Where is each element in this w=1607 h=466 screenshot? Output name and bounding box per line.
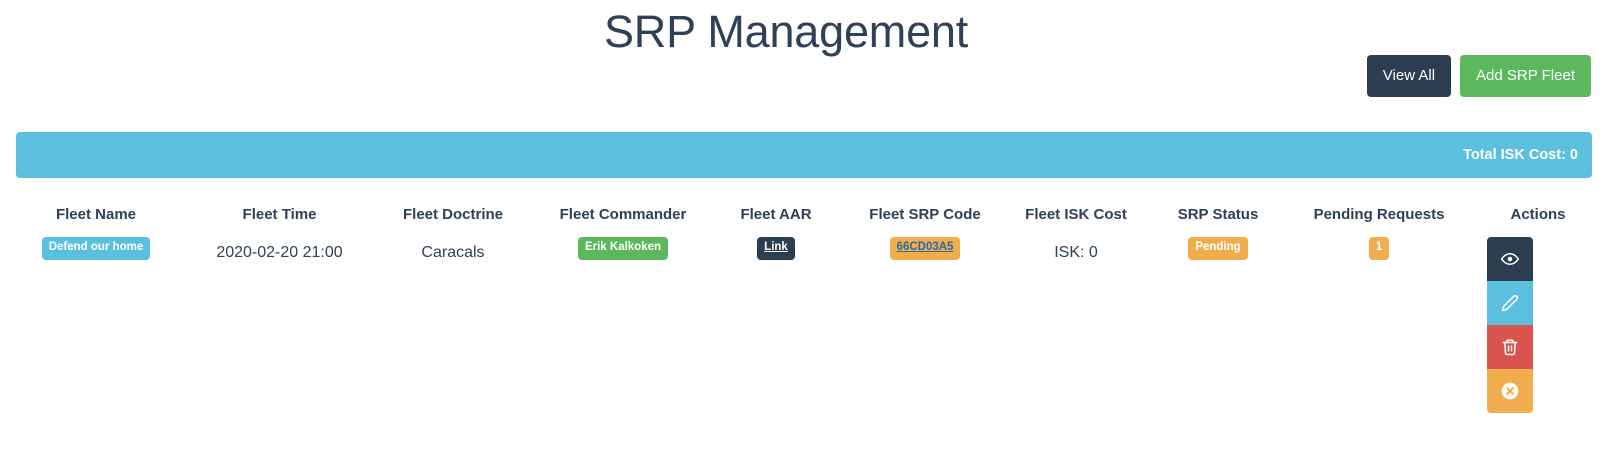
- top-action-bar: View All Add SRP Fleet: [1367, 55, 1591, 97]
- cell-fleet-name: Defend our home: [0, 233, 192, 417]
- total-isk-cost-text: Total ISK Cost: 0: [1463, 147, 1578, 163]
- eye-icon: [1501, 250, 1519, 268]
- column-header-actions: Actions: [1469, 200, 1607, 233]
- total-isk-banner: Total ISK Cost: 0: [16, 132, 1592, 178]
- row-action-buttons: [1487, 237, 1533, 413]
- fleet-isk-cost-value: ISK: 0: [1054, 237, 1098, 262]
- column-header-fleet-name: Fleet Name: [0, 200, 192, 233]
- cell-fleet-commander: Erik Kalkoken: [539, 233, 707, 417]
- column-header-fleet-time: Fleet Time: [192, 200, 367, 233]
- column-header-fleet-commander: Fleet Commander: [539, 200, 707, 233]
- column-header-fleet-aar: Fleet AAR: [707, 200, 845, 233]
- column-header-fleet-doctrine: Fleet Doctrine: [367, 200, 539, 233]
- pending-requests-badge: 1: [1369, 237, 1389, 260]
- table-row: Defend our home 2020-02-20 21:00 Caracal…: [0, 233, 1607, 417]
- fleet-aar-link[interactable]: Link: [764, 241, 788, 253]
- srp-management-page: SRP Management View All Add SRP Fleet To…: [0, 0, 1607, 466]
- fleet-commander-badge: Erik Kalkoken: [578, 237, 668, 260]
- view-srp-fleet-button[interactable]: [1487, 237, 1533, 281]
- srp-fleets-table: Fleet Name Fleet Time Fleet Doctrine Fle…: [0, 200, 1607, 417]
- cell-fleet-doctrine: Caracals: [367, 233, 539, 417]
- fleet-doctrine-value: Caracals: [421, 237, 484, 262]
- cell-pending-requests: 1: [1289, 233, 1469, 417]
- delete-srp-fleet-button[interactable]: [1487, 325, 1533, 369]
- srp-status-badge: Pending: [1188, 237, 1247, 260]
- edit-srp-fleet-button[interactable]: [1487, 281, 1533, 325]
- fleet-srp-code-badge[interactable]: 66CD03A5: [890, 237, 961, 260]
- cell-srp-status: Pending: [1147, 233, 1289, 417]
- add-srp-fleet-button[interactable]: Add SRP Fleet: [1460, 55, 1591, 97]
- fleet-time-value: 2020-02-20 21:00: [216, 237, 342, 262]
- trash-icon: [1501, 338, 1519, 356]
- fleet-name-badge[interactable]: Defend our home: [42, 237, 151, 260]
- cell-fleet-aar: Link: [707, 233, 845, 417]
- close-circle-icon: [1500, 381, 1520, 401]
- fleet-aar-badge[interactable]: Link: [757, 237, 795, 260]
- fleet-srp-code-link[interactable]: 66CD03A5: [897, 241, 954, 253]
- cell-fleet-isk-cost: ISK: 0: [1005, 233, 1147, 417]
- view-all-button[interactable]: View All: [1367, 55, 1451, 97]
- pencil-icon: [1501, 294, 1519, 312]
- cell-fleet-srp-code: 66CD03A5: [845, 233, 1005, 417]
- table-header-row: Fleet Name Fleet Time Fleet Doctrine Fle…: [0, 200, 1607, 233]
- page-title: SRP Management: [0, 4, 1572, 59]
- cell-actions: [1469, 233, 1607, 417]
- cell-fleet-time: 2020-02-20 21:00: [192, 233, 367, 417]
- column-header-fleet-isk-cost: Fleet ISK Cost: [1005, 200, 1147, 233]
- column-header-srp-status: SRP Status: [1147, 200, 1289, 233]
- column-header-fleet-srp-code: Fleet SRP Code: [845, 200, 1005, 233]
- column-header-pending-requests: Pending Requests: [1289, 200, 1469, 233]
- close-srp-fleet-button[interactable]: [1487, 369, 1533, 413]
